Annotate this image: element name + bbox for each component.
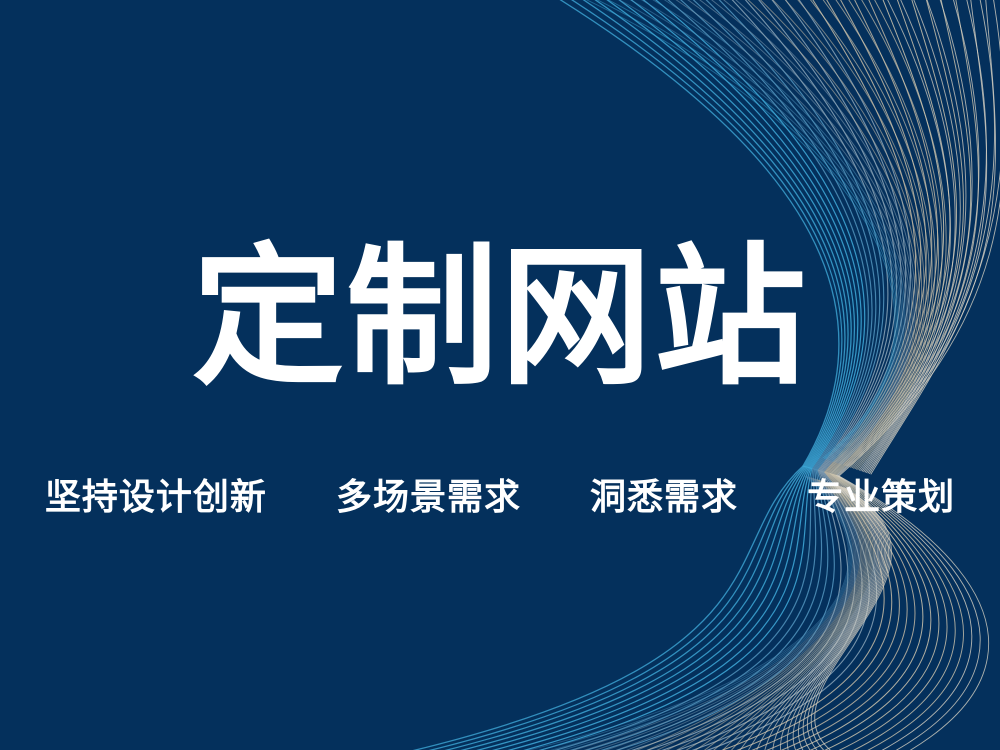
page-title: 定制网站 — [0, 238, 1000, 398]
promo-banner: 定制网站 坚持设计创新 多场景需求 洞悉需求 专业策划 — [0, 0, 1000, 750]
keyword-item-4: 专业策划 — [807, 478, 955, 518]
keyword-item-1: 坚持设计创新 — [45, 478, 267, 518]
keyword-item-2: 多场景需求 — [336, 478, 521, 518]
keyword-item-3: 洞悉需求 — [590, 478, 738, 518]
keyword-row: 坚持设计创新 多场景需求 洞悉需求 专业策划 — [0, 478, 1000, 518]
